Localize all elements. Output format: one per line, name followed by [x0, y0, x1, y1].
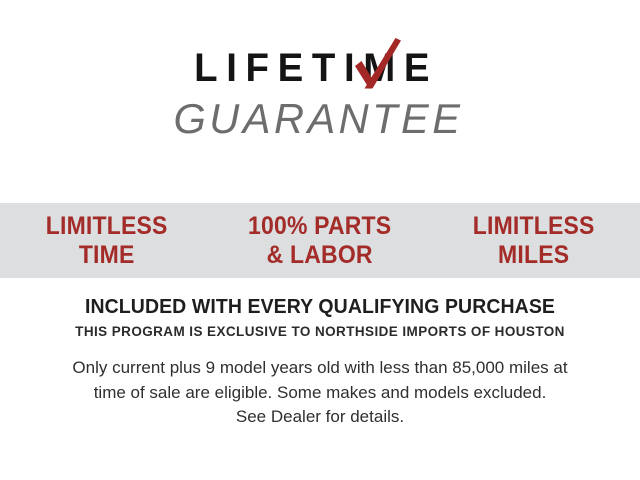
- feature-line-1: LIMITLESS: [472, 212, 594, 240]
- feature-line-2: & LABOR: [222, 241, 418, 270]
- feature-line-1: LIMITLESS: [46, 212, 168, 240]
- feature-line-1: 100% PARTS: [248, 212, 391, 240]
- info-subhead: THIS PROGRAM IS EXCLUSIVE TO NORTHSIDE I…: [16, 324, 624, 340]
- logo-lockup: LIFETIME GUARANTEE: [172, 48, 469, 140]
- fineprint-line: time of sale are eligible. Some makes an…: [34, 381, 606, 406]
- lifetime-guarantee-poster: LIFETIME GUARANTEE LIMITLESS TIME 100% P…: [0, 0, 640, 480]
- logo-block: LIFETIME GUARANTEE: [0, 48, 640, 140]
- info-block: INCLUDED WITH EVERY QUALIFYING PURCHASE …: [0, 295, 640, 430]
- feature-line-2: MILES: [435, 241, 631, 270]
- feature-line-2: TIME: [9, 241, 205, 270]
- feature-column-parts-labor: 100% PARTS & LABOR: [222, 212, 418, 269]
- fineprint-line: See Dealer for details.: [34, 405, 606, 430]
- info-headline: INCLUDED WITH EVERY QUALIFYING PURCHASE: [16, 295, 624, 319]
- logo-subtitle: GUARANTEE: [173, 98, 467, 140]
- fineprint-line: Only current plus 9 model years old with…: [34, 356, 606, 381]
- feature-band: LIMITLESS TIME 100% PARTS & LABOR LIMITL…: [0, 203, 640, 278]
- feature-column-limitless-miles: LIMITLESS MILES: [435, 212, 631, 269]
- logo-title: LIFETIME: [178, 48, 463, 88]
- feature-column-limitless-time: LIMITLESS TIME: [9, 212, 205, 269]
- info-fineprint: Only current plus 9 model years old with…: [0, 356, 640, 430]
